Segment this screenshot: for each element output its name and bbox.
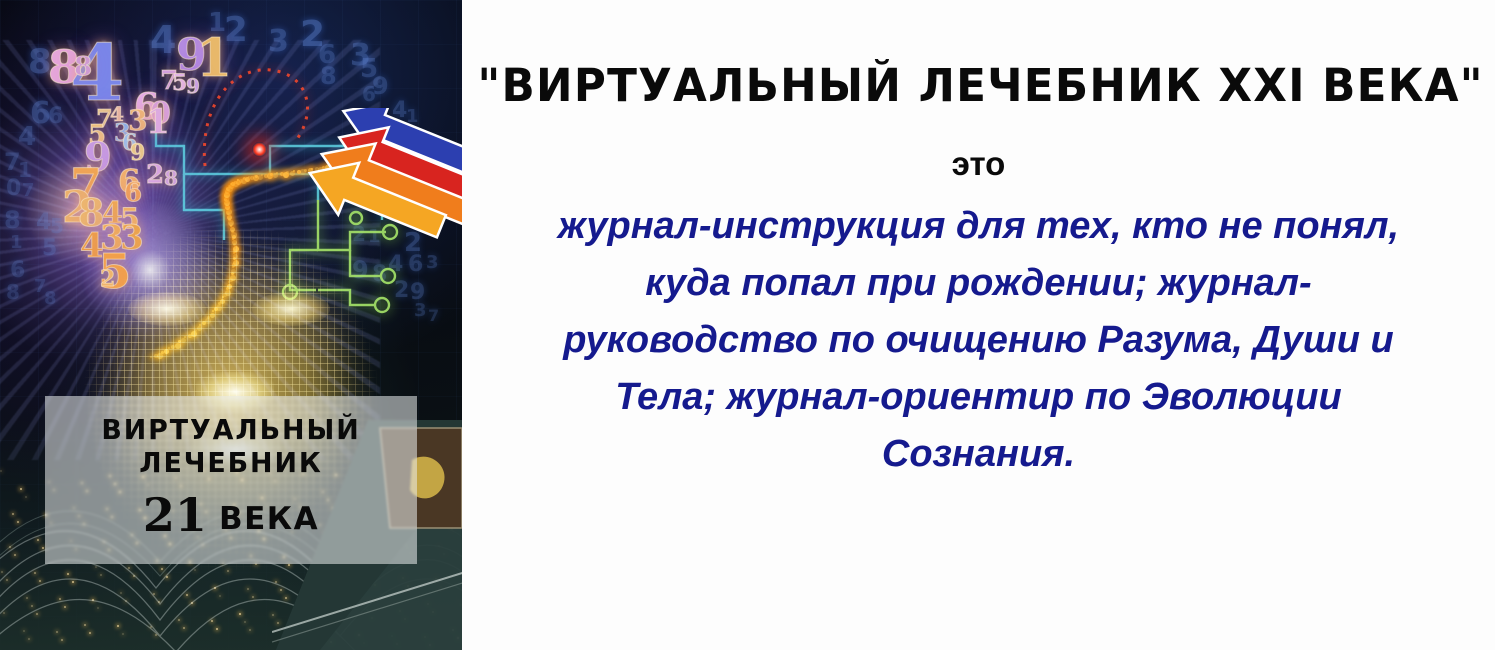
arrow-cluster-icon <box>305 108 462 243</box>
promo-text-block: "ВИРТУАЛЬНЫЙ ЛЕЧЕБНИК XXI ВЕКА" - это жу… <box>462 0 1495 650</box>
cluster-digit: 1 <box>196 28 232 89</box>
cover-century-number: 21 <box>143 488 207 542</box>
cluster-digit: 8 <box>164 166 178 190</box>
body-paragraph: журнал-инструкция для тех, кто не понял,… <box>486 198 1471 483</box>
body-line: Тела; журнал-ориентир по Эволюции <box>486 369 1471 426</box>
cover-century-word: ВЕКА <box>219 501 319 537</box>
cluster-digit: 8 <box>74 52 92 82</box>
face-eye-left <box>128 292 206 326</box>
cluster-digit: 9 <box>186 74 200 98</box>
magazine-cover-image: 8642326385664710784515687819641054624632… <box>0 0 462 650</box>
body-line: руководство по очищению Разума, Души и <box>486 312 1471 369</box>
face-eye-right <box>252 292 330 326</box>
cluster-digit: 2 <box>146 160 164 190</box>
body-line: журнал-инструкция для тех, кто не понял, <box>486 198 1471 255</box>
body-line: Сознания. <box>486 426 1471 483</box>
body-line: куда попал при рождении; журнал- <box>486 255 1471 312</box>
cover-subtitle: 21ВЕКА <box>45 488 417 542</box>
headline-connector: это <box>462 145 1495 183</box>
promo-banner: 8642326385664710784515687819641054624632… <box>0 0 1495 650</box>
cluster-digit: 1 <box>146 102 170 142</box>
cover-title-plate: ВИРТУАЛЬНЫЙ ЛЕЧЕБНИК 21ВЕКА <box>45 396 417 564</box>
headline-main: "ВИРТУАЛЬНЫЙ ЛЕЧЕБНИК XXI ВЕКА" - <box>477 62 1479 109</box>
cover-title: ВИРТУАЛЬНЫЙ ЛЕЧЕБНИК <box>52 413 409 479</box>
